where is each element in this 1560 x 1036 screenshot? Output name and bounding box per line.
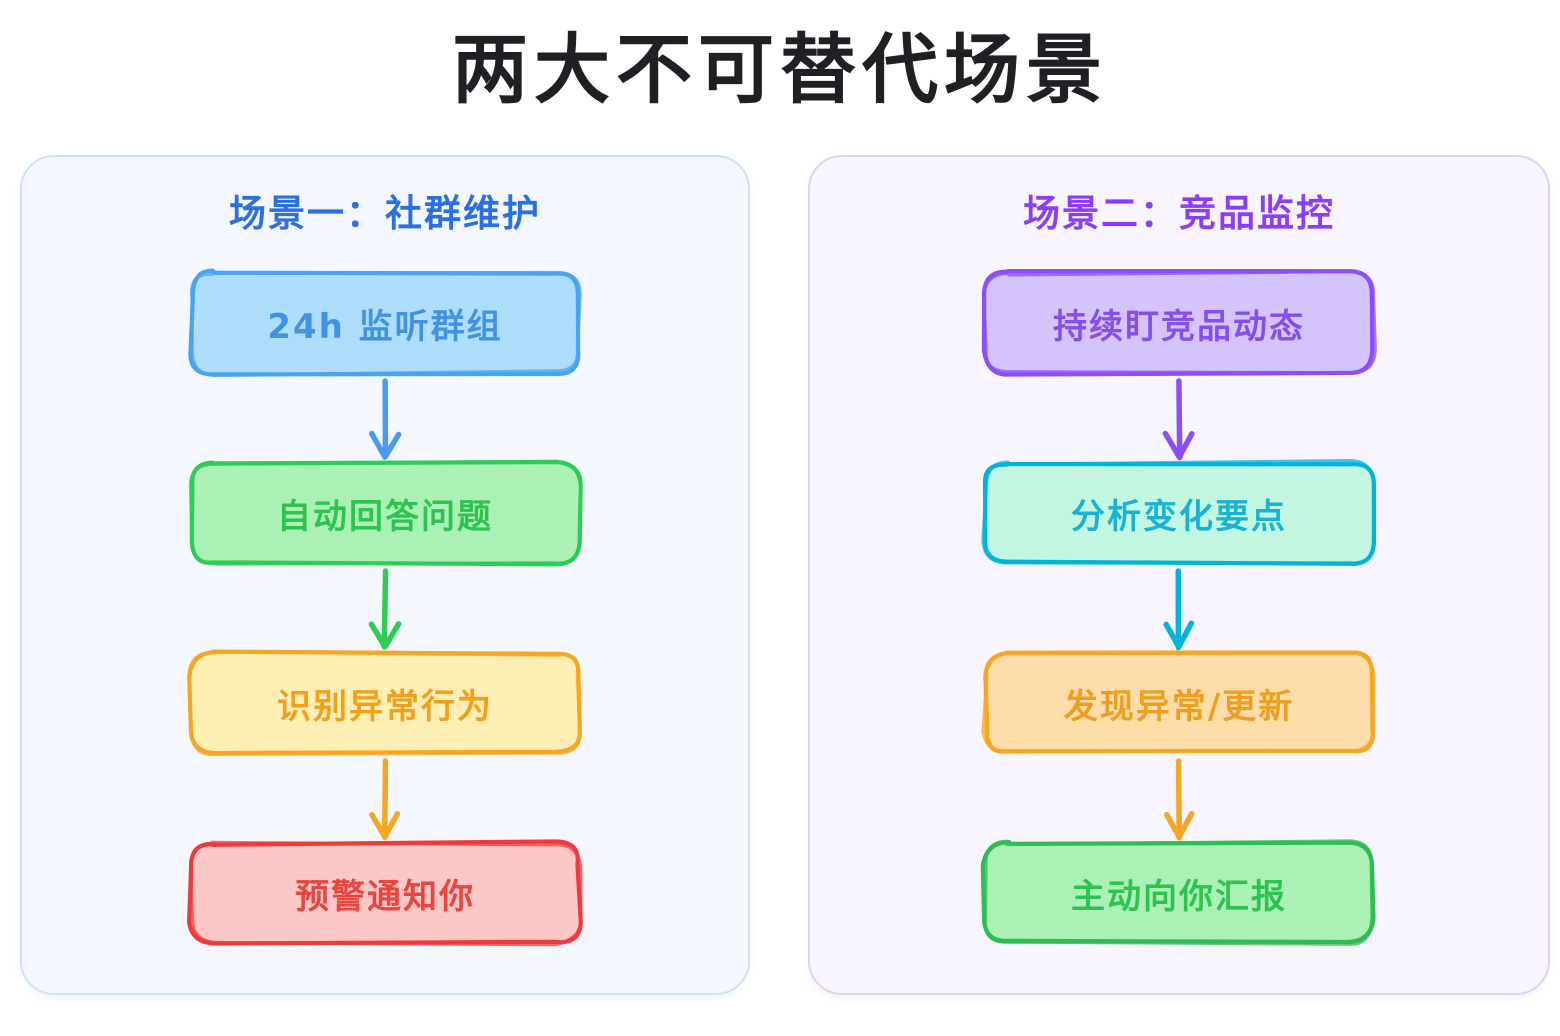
node-scenario-two-2[interactable]: 分析变化要点 — [979, 457, 1379, 569]
arrow-scenario-one-1 — [355, 379, 415, 459]
panel-scenario-two: 场景二：竞品监控 持续盯竞品动态 分析变化要点 发现异常/更新 主动向你汇报 — [808, 155, 1550, 995]
arrow-down-icon — [355, 379, 415, 459]
node-label: 自动回答问题 — [185, 457, 585, 569]
node-scenario-two-4[interactable]: 主动向你汇报 — [979, 837, 1379, 949]
node-label: 分析变化要点 — [979, 457, 1379, 569]
arrow-down-icon — [1149, 569, 1209, 649]
arrow-scenario-two-3 — [1149, 759, 1209, 839]
arrow-down-icon — [355, 759, 415, 839]
panel-scenario-one: 场景一：社群维护 24h 监听群组 自动回答问题 识别异常行为 预警通知你 — [20, 155, 750, 995]
node-scenario-two-1[interactable]: 持续盯竞品动态 — [979, 267, 1379, 379]
node-label: 24h 监听群组 — [185, 267, 585, 379]
node-scenario-two-3[interactable]: 发现异常/更新 — [979, 647, 1379, 759]
node-scenario-one-4[interactable]: 预警通知你 — [185, 837, 585, 949]
page-title: 两大不可替代场景 — [0, 8, 1560, 118]
node-label: 发现异常/更新 — [979, 647, 1379, 759]
node-scenario-one-3[interactable]: 识别异常行为 — [185, 647, 585, 759]
node-label: 主动向你汇报 — [979, 837, 1379, 949]
arrow-down-icon — [1149, 379, 1209, 459]
arrow-scenario-one-2 — [355, 569, 415, 649]
node-label: 识别异常行为 — [185, 647, 585, 759]
node-label: 持续盯竞品动态 — [979, 267, 1379, 379]
node-scenario-one-1[interactable]: 24h 监听群组 — [185, 267, 585, 379]
arrow-scenario-one-3 — [355, 759, 415, 839]
panel-title-scenario-two: 场景二：竞品监控 — [810, 183, 1548, 237]
node-scenario-one-2[interactable]: 自动回答问题 — [185, 457, 585, 569]
panel-title-scenario-one: 场景一：社群维护 — [22, 183, 748, 237]
arrow-scenario-two-1 — [1149, 379, 1209, 459]
arrow-down-icon — [355, 569, 415, 649]
node-label: 预警通知你 — [185, 837, 585, 949]
arrow-down-icon — [1149, 759, 1209, 839]
arrow-scenario-two-2 — [1149, 569, 1209, 649]
